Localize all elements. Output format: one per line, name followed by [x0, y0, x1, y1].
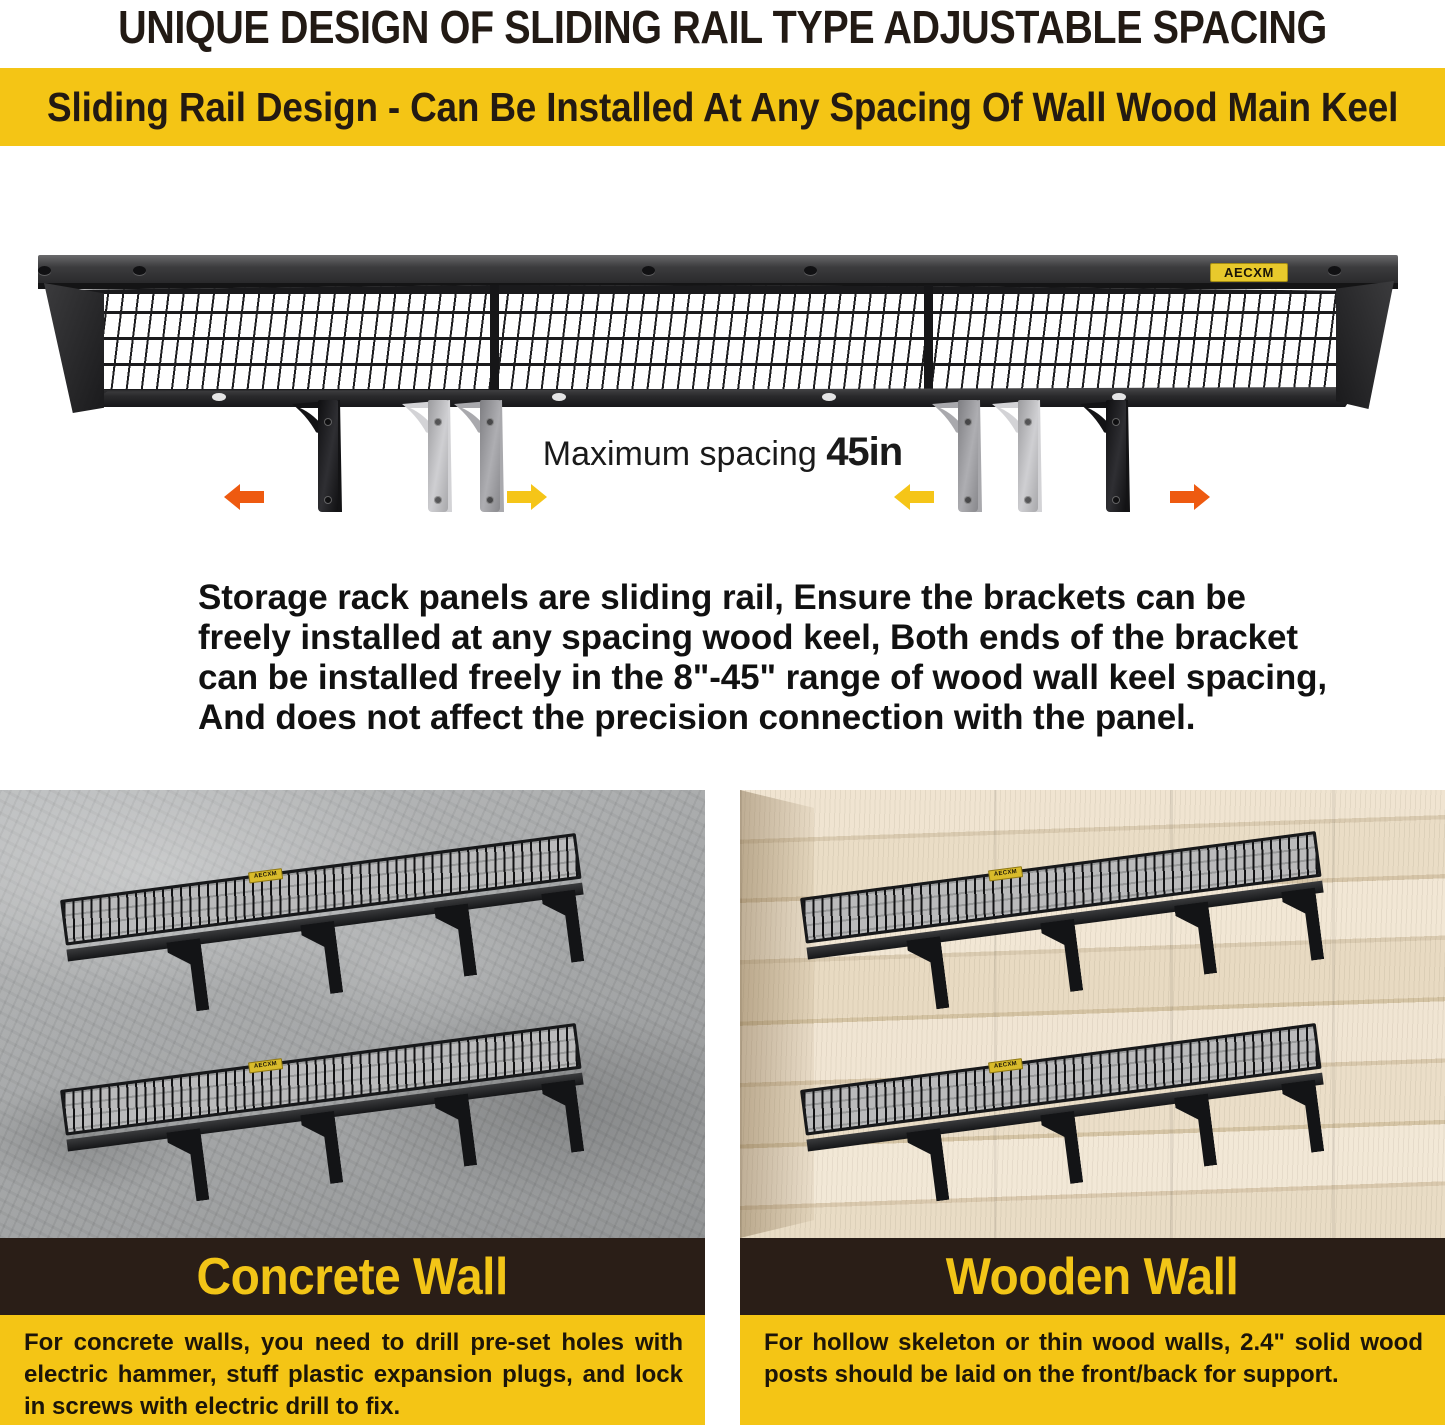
- brand-label: AECXM: [1224, 265, 1274, 280]
- description-paragraph: Storage rack panels are sliding rail, En…: [198, 578, 1266, 738]
- arrow-right-outward-icon: [1168, 480, 1212, 514]
- description-line: can be installed freely in the 8"-45" ra…: [198, 658, 1266, 698]
- max-spacing-text: Maximum spacing: [543, 435, 817, 473]
- max-spacing-value: 45in: [826, 430, 902, 474]
- panel-divider: [490, 285, 499, 403]
- hero-product-illustration: AECXM: [0, 160, 1445, 560]
- max-spacing-label: Maximum spacing 45in: [0, 432, 1445, 474]
- mesh-panel: [493, 285, 933, 403]
- mounting-hole: [804, 266, 817, 275]
- panel-info-text-wooden: For hollow skeleton or thin wood walls, …: [764, 1327, 1423, 1391]
- mesh-panel: [928, 285, 1358, 403]
- mounting-hole: [133, 266, 146, 275]
- arrow-left-inward-icon: [892, 480, 936, 514]
- wall-type-panels: AECXM AECXM Concrete Wall: [0, 790, 1445, 1425]
- panel-wooden: AECXM AECXM Wooden Wall: [740, 790, 1445, 1425]
- shelf-mesh-deck: [38, 285, 1398, 403]
- arrow-right-inward-icon: [505, 480, 549, 514]
- panel-caption-bar-wooden: Wooden Wall: [740, 1238, 1445, 1315]
- brand-plate: AECXM: [1210, 263, 1288, 282]
- panel-info-bar-wooden: For hollow skeleton or thin wood walls, …: [740, 1315, 1445, 1425]
- mounting-hole: [552, 393, 566, 401]
- wall-shelf-lower: AECXM: [60, 1023, 585, 1159]
- mounting-hole: [38, 266, 51, 275]
- description-line: And does not affect the precision connec…: [198, 698, 1266, 738]
- panel-divider: [924, 285, 933, 403]
- shelf-assembly: AECXM: [38, 255, 1398, 435]
- description-line: freely installed at any spacing wood kee…: [198, 618, 1266, 658]
- concrete-wall-photo: AECXM AECXM: [0, 790, 705, 1238]
- description-line: Storage rack panels are sliding rail, En…: [198, 578, 1266, 618]
- wood-plank-joints: [740, 790, 1445, 1238]
- subtitle-banner: Sliding Rail Design - Can Be Installed A…: [0, 68, 1445, 146]
- mounting-hole: [212, 393, 226, 401]
- panel-concrete: AECXM AECXM Concrete Wall: [0, 790, 705, 1425]
- wall-shelf-upper: AECXM: [60, 833, 585, 969]
- wooden-wall-photo: AECXM AECXM: [740, 790, 1445, 1238]
- arrow-left-outward-icon: [222, 480, 266, 514]
- shelf-back-rail: AECXM: [38, 255, 1398, 289]
- mesh-panel: [78, 285, 498, 403]
- subtitle-banner-text: Sliding Rail Design - Can Be Installed A…: [47, 85, 1398, 129]
- page-headline: UNIQUE DESIGN OF SLIDING RAIL TYPE ADJUS…: [101, 2, 1344, 54]
- panel-caption-bar-concrete: Concrete Wall: [0, 1238, 705, 1315]
- mounting-hole: [1328, 266, 1341, 275]
- panel-caption-concrete: Concrete Wall: [197, 1249, 508, 1305]
- mounting-hole: [822, 393, 836, 401]
- panel-info-text-concrete: For concrete walls, you need to drill pr…: [24, 1327, 683, 1423]
- wood-wall-corner: [740, 790, 814, 1238]
- infographic-page: UNIQUE DESIGN OF SLIDING RAIL TYPE ADJUS…: [0, 0, 1445, 1425]
- panel-info-bar-concrete: For concrete walls, you need to drill pr…: [0, 1315, 705, 1425]
- panel-caption-wooden: Wooden Wall: [946, 1249, 1239, 1305]
- mounting-hole: [642, 266, 655, 275]
